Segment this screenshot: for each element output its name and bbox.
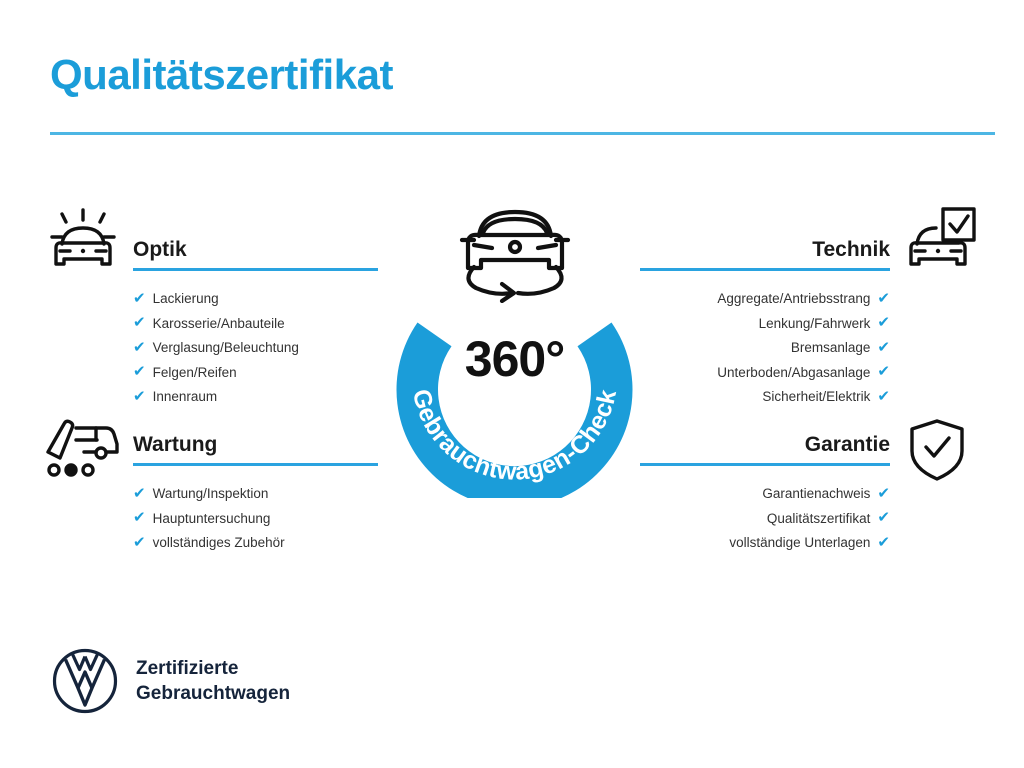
list-item-label: Garantienachweis	[762, 482, 870, 507]
check-icon: ✔	[877, 291, 890, 306]
list-item: ✔ Wartung/Inspektion	[133, 482, 378, 507]
footer-text: Zertifizierte Gebrauchtwagen	[136, 656, 290, 706]
check-icon: ✔	[133, 510, 146, 525]
footer-line-1: Zertifizierte	[136, 656, 290, 681]
list-item: ✔ Felgen/Reifen	[133, 361, 378, 386]
section-wartung-divider	[133, 463, 378, 466]
section-optik-title: Optik	[133, 237, 378, 263]
list-item: ✔ Karosserie/Anbauteile	[133, 312, 378, 337]
list-item: Sicherheit/Elektrik ✔	[640, 385, 890, 410]
section-technik: Technik Aggregate/Antriebsstrang ✔ Lenku…	[640, 237, 890, 410]
list-item: Unterboden/Abgasanlage ✔	[640, 361, 890, 386]
list-item-label: Sicherheit/Elektrik	[762, 385, 870, 410]
check-icon: ✔	[877, 486, 890, 501]
section-technik-list: Aggregate/Antriebsstrang ✔ Lenkung/Fahrw…	[640, 287, 890, 410]
section-wartung-list: ✔ Wartung/Inspektion ✔ Hauptuntersuchung…	[133, 482, 378, 556]
section-wartung-head: Wartung	[133, 432, 378, 466]
check-icon: ✔	[133, 364, 146, 379]
check-icon: ✔	[133, 315, 146, 330]
list-item: ✔ Innenraum	[133, 385, 378, 410]
list-item: Garantienachweis ✔	[640, 482, 890, 507]
check-icon: ✔	[133, 486, 146, 501]
section-garantie: Garantie Garantienachweis ✔ Qualitätszer…	[640, 432, 890, 556]
list-item: Aggregate/Antriebsstrang ✔	[640, 287, 890, 312]
list-item-label: Qualitätszertifikat	[767, 507, 871, 532]
section-optik-divider	[133, 268, 378, 271]
list-item: ✔ Verglasung/Beleuchtung	[133, 336, 378, 361]
list-item: ✔ Hauptuntersuchung	[133, 507, 378, 532]
list-item-label: vollständige Unterlagen	[729, 531, 870, 556]
car-service-tool-icon	[40, 414, 122, 485]
title-divider	[50, 132, 995, 135]
list-item-label: Lenkung/Fahrwerk	[759, 312, 871, 337]
section-technik-divider	[640, 268, 890, 271]
list-item-label: Unterboden/Abgasanlage	[717, 361, 870, 386]
list-item: ✔ vollständiges Zubehör	[133, 531, 378, 556]
list-item-label: Verglasung/Beleuchtung	[153, 336, 299, 361]
list-item-label: Karosserie/Anbauteile	[153, 312, 285, 337]
list-item-label: Wartung/Inspektion	[153, 482, 269, 507]
section-garantie-list: Garantienachweis ✔ Qualitätszertifikat ✔…	[640, 482, 890, 556]
list-item: Lenkung/Fahrwerk ✔	[640, 312, 890, 337]
check-icon: ✔	[133, 291, 146, 306]
page-title: Qualitätszertifikat	[50, 52, 393, 98]
section-optik-list: ✔ Lackierung ✔ Karosserie/Anbauteile ✔ V…	[133, 287, 378, 410]
check-icon: ✔	[877, 340, 890, 355]
section-wartung-title: Wartung	[133, 432, 378, 458]
car-front-rotate-icon	[450, 198, 580, 303]
section-optik-head: Optik	[133, 237, 378, 271]
list-item-label: Bremsanlage	[791, 336, 871, 361]
list-item: Qualitätszertifikat ✔	[640, 507, 890, 532]
list-item: vollständige Unterlagen ✔	[640, 531, 890, 556]
badge-360-check: Gebrauchtwagen-Check 360°	[372, 198, 657, 498]
check-icon: ✔	[877, 389, 890, 404]
list-item-label: Hauptuntersuchung	[153, 507, 271, 532]
section-optik: Optik ✔ Lackierung ✔ Karosserie/Anbautei…	[133, 237, 378, 410]
list-item: ✔ Lackierung	[133, 287, 378, 312]
section-garantie-head: Garantie	[640, 432, 890, 466]
list-item-label: vollständiges Zubehör	[153, 531, 285, 556]
section-wartung: Wartung ✔ Wartung/Inspektion ✔ Hauptunte…	[133, 432, 378, 556]
list-item: Bremsanlage ✔	[640, 336, 890, 361]
section-technik-title: Technik	[640, 237, 890, 263]
footer-line-2: Gebrauchtwagen	[136, 681, 290, 706]
section-garantie-divider	[640, 463, 890, 466]
vw-logo	[52, 648, 118, 714]
section-garantie-title: Garantie	[640, 432, 890, 458]
vw-logo-lockup: Zertifizierte Gebrauchtwagen	[52, 648, 290, 714]
badge-center-label: 360°	[372, 331, 657, 387]
list-item-label: Innenraum	[153, 385, 218, 410]
list-item-label: Aggregate/Antriebsstrang	[717, 287, 870, 312]
check-icon: ✔	[877, 510, 890, 525]
list-item-label: Felgen/Reifen	[153, 361, 237, 386]
section-technik-head: Technik	[640, 237, 890, 271]
shield-check-icon	[906, 416, 968, 489]
check-icon: ✔	[133, 389, 146, 404]
check-icon: ✔	[877, 535, 890, 550]
check-icon: ✔	[877, 364, 890, 379]
car-shine-icon	[44, 206, 122, 283]
certificate-page: Qualitätszertifikat	[0, 0, 1024, 768]
car-checkbox-icon	[902, 202, 980, 283]
check-icon: ✔	[877, 315, 890, 330]
list-item-label: Lackierung	[153, 287, 219, 312]
check-icon: ✔	[133, 340, 146, 355]
check-icon: ✔	[133, 535, 146, 550]
